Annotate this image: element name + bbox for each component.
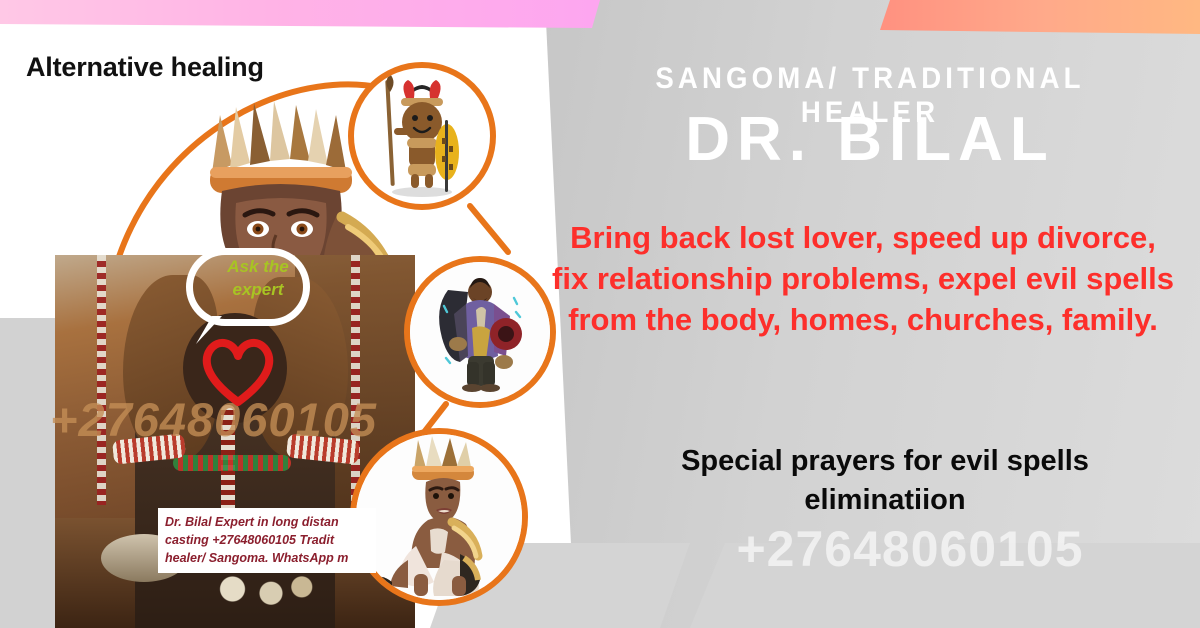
circle-badge-warrior bbox=[348, 62, 496, 210]
services-description: Bring back lost lover, speed up divorce,… bbox=[548, 218, 1178, 341]
special-prayers-text: Special prayers for evil spells eliminat… bbox=[600, 442, 1170, 520]
heart-outline-icon bbox=[196, 332, 280, 408]
caption-line-1: Dr. Bilal Expert in long distan bbox=[165, 513, 369, 531]
large-watermark-phone: +27648060105 bbox=[640, 520, 1180, 578]
photo-caption-box: Dr. Bilal Expert in long distan casting … bbox=[158, 508, 376, 573]
zulu-warrior-cartoon-icon bbox=[354, 68, 490, 204]
top-pink-accent-bar bbox=[0, 0, 600, 28]
traditional-dancer-crouching-icon bbox=[356, 434, 522, 600]
page-title: Alternative healing bbox=[26, 52, 264, 83]
photo-divination-bones bbox=[205, 568, 315, 610]
healer-name-title: DR. BILAL bbox=[560, 104, 1180, 175]
top-orange-accent-bar bbox=[880, 0, 1200, 34]
circle-badge-dancer bbox=[350, 428, 528, 606]
caption-line-2: casting +27648060105 Tradit bbox=[165, 531, 369, 549]
caption-line-3: healer/ Sangoma. WhatsApp m bbox=[165, 549, 369, 567]
poster-canvas: Alternative healing bbox=[0, 0, 1200, 628]
circle-badge-diviner bbox=[404, 256, 556, 408]
speech-bubble-label: Ask the expert bbox=[204, 256, 312, 302]
photo-green-bead-collar bbox=[173, 455, 291, 471]
photo-beaded-strap-left bbox=[97, 255, 106, 505]
sangoma-diviner-figure-icon bbox=[410, 262, 550, 402]
